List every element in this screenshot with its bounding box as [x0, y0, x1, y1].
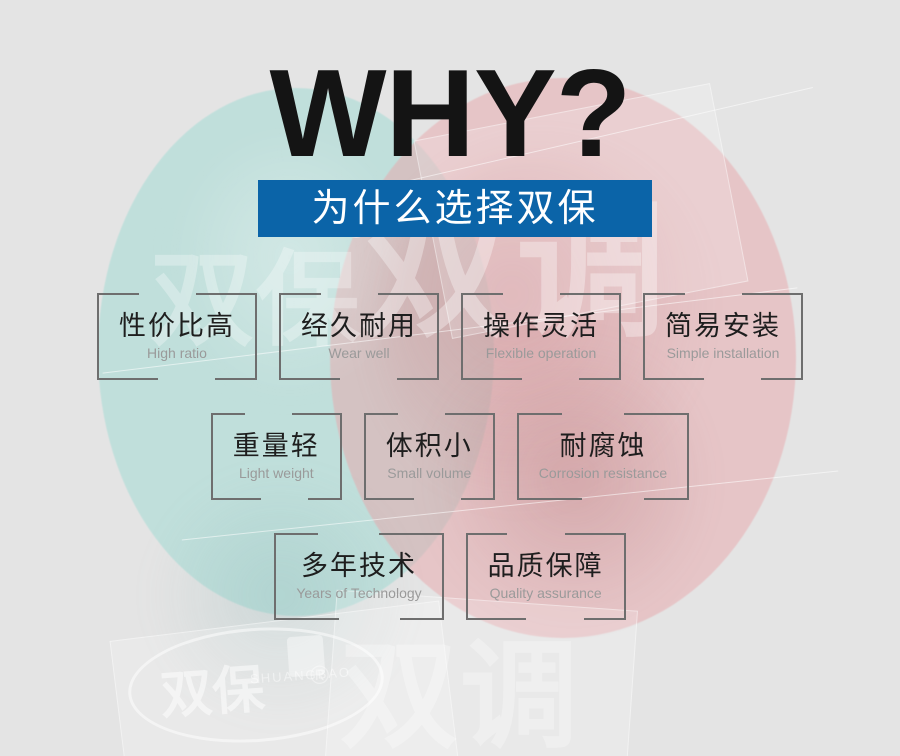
feature-card[interactable]: 多年技术 Years of Technology — [274, 533, 443, 620]
feature-title-cn: 操作灵活 — [483, 312, 599, 341]
feature-card[interactable]: 重量轻 Light weight — [211, 413, 342, 500]
feature-title-en: Quality assurance — [490, 586, 602, 601]
feature-grid: 性价比高 High ratio 经久耐用 Wear well — [0, 293, 900, 620]
feature-title-cn: 多年技术 — [301, 552, 417, 581]
poster-root: 双保 双调 双调 ® 双保 SHUANGBAO ® WHY? 为什么选择双保 性… — [0, 0, 900, 756]
feature-title-cn: 体积小 — [386, 432, 473, 461]
feature-title-en: Wear well — [328, 346, 389, 361]
watermark-oval-outline — [124, 619, 387, 751]
feature-title-cn: 经久耐用 — [301, 312, 417, 341]
feature-card-content: 耐腐蚀 Corrosion resistance — [517, 432, 689, 482]
subtitle-banner: 为什么选择双保 — [258, 180, 652, 237]
feature-card-content: 操作灵活 Flexible operation — [461, 312, 621, 362]
subtitle-banner-text: 为什么选择双保 — [311, 190, 598, 228]
watermark-oval-pinyin: SHUANGBAO — [250, 664, 352, 686]
feature-row-3: 多年技术 Years of Technology 品质保障 Quality as… — [0, 533, 900, 620]
feature-card-content: 经久耐用 Wear well — [279, 312, 439, 362]
feature-title-cn: 性价比高 — [119, 312, 235, 341]
feature-card[interactable]: 操作灵活 Flexible operation — [461, 293, 621, 380]
feature-row-1: 性价比高 High ratio 经久耐用 Wear well — [0, 293, 900, 380]
feature-title-en: Years of Technology — [296, 586, 421, 601]
feature-title-en: Corrosion resistance — [539, 466, 667, 481]
feature-card-content: 体积小 Small volume — [364, 432, 495, 482]
feature-title-en: Small volume — [387, 466, 471, 481]
feature-title-en: High ratio — [147, 346, 207, 361]
watermark-logo-badge-icon — [287, 635, 326, 677]
registered-mark-2-icon: ® — [310, 660, 329, 691]
feature-title-cn: 耐腐蚀 — [559, 432, 646, 461]
feature-title-en: Light weight — [239, 466, 314, 481]
feature-title-en: Simple installation — [667, 346, 780, 361]
feature-card-content: 品质保障 Quality assurance — [466, 552, 626, 602]
feature-title-cn: 重量轻 — [233, 432, 320, 461]
feature-card[interactable]: 简易安装 Simple installation — [643, 293, 803, 380]
feature-card[interactable]: 耐腐蚀 Corrosion resistance — [517, 413, 689, 500]
page-title: WHY? — [0, 52, 900, 176]
feature-title-en: Flexible operation — [486, 346, 597, 361]
feature-card[interactable]: 品质保障 Quality assurance — [466, 533, 626, 620]
feature-card-content: 多年技术 Years of Technology — [274, 552, 443, 602]
feature-card[interactable]: 体积小 Small volume — [364, 413, 495, 500]
feature-card[interactable]: 经久耐用 Wear well — [279, 293, 439, 380]
feature-title-cn: 品质保障 — [488, 552, 604, 581]
feature-card[interactable]: 性价比高 High ratio — [97, 293, 257, 380]
watermark-oval-brand: 双保 — [158, 646, 267, 728]
feature-card-content: 重量轻 Light weight — [211, 432, 342, 482]
feature-row-2: 重量轻 Light weight 体积小 Small volume — [0, 413, 900, 500]
feature-card-content: 性价比高 High ratio — [97, 312, 257, 362]
watermark-brand-low: 双调 — [340, 600, 580, 756]
feature-card-content: 简易安装 Simple installation — [643, 312, 803, 362]
feature-title-cn: 简易安装 — [665, 312, 781, 341]
translucent-sheet-bottom-left — [110, 600, 463, 756]
